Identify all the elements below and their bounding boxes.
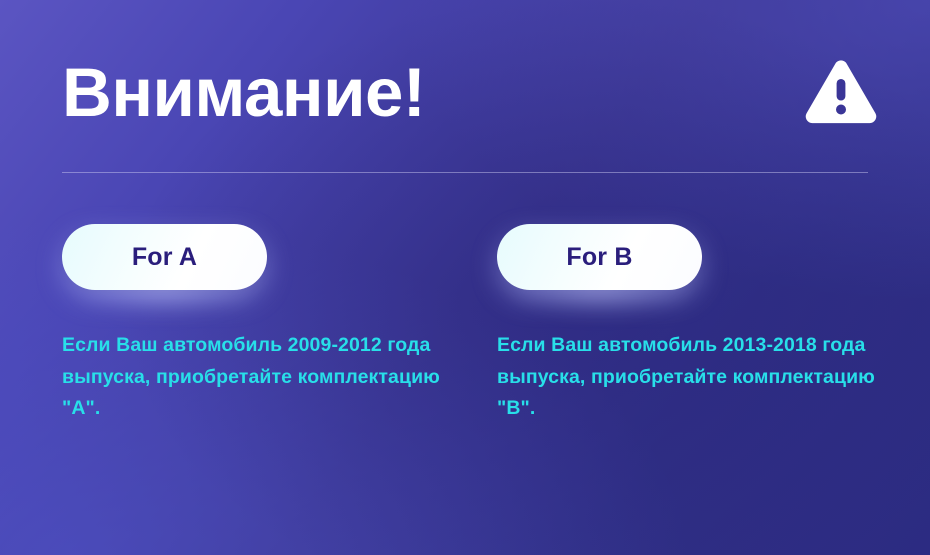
page-title: Внимание! xyxy=(62,58,425,127)
header-divider xyxy=(62,172,868,173)
option-b-description: Если Ваш автомобиль 2013-2018 года выпус… xyxy=(497,330,879,425)
for-a-button-label: For A xyxy=(132,245,197,270)
for-a-button-wrap: For A xyxy=(62,224,267,290)
warning-triangle-icon xyxy=(804,59,878,125)
options-row: For A Если Ваш автомобиль 2009-2012 года… xyxy=(62,224,880,444)
for-b-button-label: For B xyxy=(566,245,632,270)
option-column-b: For B Если Ваш автомобиль 2013-2018 года… xyxy=(497,224,930,444)
option-a-description: Если Ваш автомобиль 2009-2012 года выпус… xyxy=(62,330,444,425)
banner-header: Внимание! xyxy=(62,52,878,132)
notice-banner: Внимание! For A Если Ваш автомобиль 20 xyxy=(0,0,930,555)
for-b-button[interactable]: For B xyxy=(497,224,702,290)
option-column-a: For A Если Ваш автомобиль 2009-2012 года… xyxy=(62,224,497,444)
for-a-button[interactable]: For A xyxy=(62,224,267,290)
for-b-button-wrap: For B xyxy=(497,224,702,290)
